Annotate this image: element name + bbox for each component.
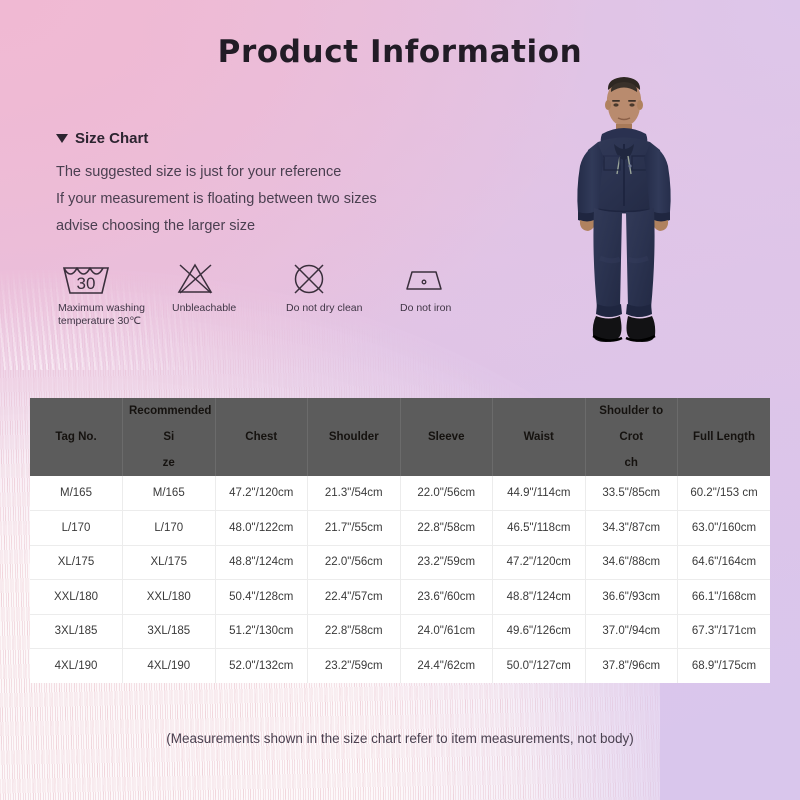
cell-chest: 47.2"/120cm (215, 476, 308, 511)
table-row: XL/175 XL/175 48.8"/124cm 22.0"/56cm 23.… (30, 545, 770, 580)
column-header-shoulder-to-crotch: Shoulder to Crot ch (585, 398, 678, 476)
table-header-row: Tag No. Recommended Si ze Chest Shoulder… (30, 398, 770, 476)
measurement-disclaimer: (Measurements shown in the size chart re… (0, 731, 800, 746)
size-chart-note-3: advise choosing the larger size (56, 213, 476, 240)
cell-recommended-size: L/170 (123, 511, 216, 546)
cell-shoulder: 22.0"/56cm (308, 545, 401, 580)
size-chart-section: Size Chart The suggested size is just fo… (56, 130, 476, 240)
cell-shoulder-to-crotch: 33.5"/85cm (585, 476, 678, 511)
column-header-line: Shoulder to Crot (599, 405, 663, 443)
care-label-dry-clean: Do not dry clean (286, 302, 374, 315)
size-chart-heading[interactable]: Size Chart (56, 130, 476, 147)
cell-tag-no: 4XL/190 (30, 649, 123, 684)
cell-waist: 50.0"/127cm (493, 649, 586, 684)
svg-text:30: 30 (77, 274, 96, 293)
care-item-washing: 30 Maximum washing temperature 30℃ (58, 258, 146, 328)
column-header-line: Tag No. (55, 431, 96, 443)
column-header-line: Full Length (693, 431, 755, 443)
cell-waist: 48.8"/124cm (493, 580, 586, 615)
cell-shoulder: 23.2"/59cm (308, 649, 401, 684)
cell-tag-no: XXL/180 (30, 580, 123, 615)
care-label-iron: Do not iron (400, 302, 488, 315)
cell-tag-no: 3XL/185 (30, 614, 123, 649)
cell-tag-no: XL/175 (30, 545, 123, 580)
cell-shoulder-to-crotch: 37.0"/94cm (585, 614, 678, 649)
cell-recommended-size: XL/175 (123, 545, 216, 580)
size-chart-note-2: If your measurement is floating between … (56, 186, 476, 213)
column-header-line: Shoulder (329, 431, 379, 443)
cell-full-length: 64.6"/164cm (678, 545, 771, 580)
cell-chest: 52.0"/132cm (215, 649, 308, 684)
wash-tub-30-icon: 30 (58, 258, 146, 300)
cell-shoulder-to-crotch: 37.8"/96cm (585, 649, 678, 684)
cell-recommended-size: 4XL/190 (123, 649, 216, 684)
table-row: XXL/180 XXL/180 50.4"/128cm 22.4"/57cm 2… (30, 580, 770, 615)
cell-sleeve: 24.4"/62cm (400, 649, 493, 684)
cell-recommended-size: 3XL/185 (123, 614, 216, 649)
cell-full-length: 60.2"/153 cm (678, 476, 771, 511)
cell-chest: 48.8"/124cm (215, 545, 308, 580)
size-chart-table: Tag No. Recommended Si ze Chest Shoulder… (30, 398, 770, 683)
care-item-bleach: Unbleachable (172, 258, 260, 328)
column-header-full-length: Full Length (678, 398, 771, 476)
cell-shoulder: 22.4"/57cm (308, 580, 401, 615)
column-header-recommended-size: Recommended Si ze (123, 398, 216, 476)
column-header-waist: Waist (493, 398, 586, 476)
cell-sleeve: 22.0"/56cm (400, 476, 493, 511)
care-item-iron: Do not iron (400, 258, 488, 328)
care-label-bleach: Unbleachable (172, 302, 260, 315)
column-header-line: Recommended Si (129, 405, 211, 443)
cell-full-length: 66.1"/168cm (678, 580, 771, 615)
column-header-line: Sleeve (428, 431, 464, 443)
cell-full-length: 67.3"/171cm (678, 614, 771, 649)
care-item-dry-clean: Do not dry clean (286, 258, 374, 328)
model-photo (548, 62, 700, 374)
no-bleach-triangle-icon (172, 258, 260, 300)
no-dry-clean-circle-icon (286, 258, 374, 300)
cell-recommended-size: M/165 (123, 476, 216, 511)
cell-waist: 47.2"/120cm (493, 545, 586, 580)
cell-shoulder: 21.7"/55cm (308, 511, 401, 546)
cell-sleeve: 22.8"/58cm (400, 511, 493, 546)
cell-full-length: 68.9"/175cm (678, 649, 771, 684)
cell-waist: 44.9"/114cm (493, 476, 586, 511)
cell-sleeve: 23.6"/60cm (400, 580, 493, 615)
cell-shoulder: 21.3"/54cm (308, 476, 401, 511)
cell-shoulder-to-crotch: 34.3"/87cm (585, 511, 678, 546)
cell-sleeve: 23.2"/59cm (400, 545, 493, 580)
table-row: 3XL/185 3XL/185 51.2"/130cm 22.8"/58cm 2… (30, 614, 770, 649)
cell-full-length: 63.0"/160cm (678, 511, 771, 546)
cell-recommended-size: XXL/180 (123, 580, 216, 615)
cell-waist: 46.5"/118cm (493, 511, 586, 546)
care-label-washing: Maximum washing temperature 30℃ (58, 302, 150, 328)
table-row: 4XL/190 4XL/190 52.0"/132cm 23.2"/59cm 2… (30, 649, 770, 684)
cell-sleeve: 24.0"/61cm (400, 614, 493, 649)
cell-chest: 51.2"/130cm (215, 614, 308, 649)
column-header-chest: Chest (215, 398, 308, 476)
size-chart-note-1: The suggested size is just for your refe… (56, 159, 476, 186)
column-header-sleeve: Sleeve (400, 398, 493, 476)
column-header-line: ch (625, 457, 638, 469)
cell-shoulder-to-crotch: 36.6"/93cm (585, 580, 678, 615)
cell-shoulder-to-crotch: 34.6"/88cm (585, 545, 678, 580)
cell-chest: 50.4"/128cm (215, 580, 308, 615)
triangle-down-icon[interactable] (56, 134, 68, 143)
cell-shoulder: 22.8"/58cm (308, 614, 401, 649)
cell-tag-no: L/170 (30, 511, 123, 546)
table-row: L/170 L/170 48.0"/122cm 21.7"/55cm 22.8"… (30, 511, 770, 546)
column-header-line: ze (163, 457, 175, 469)
column-header-tag-no: Tag No. (30, 398, 123, 476)
column-header-line: Chest (245, 431, 277, 443)
care-instructions-row: 30 Maximum washing temperature 30℃ Unble… (58, 258, 488, 328)
no-iron-icon (400, 258, 488, 300)
column-header-shoulder: Shoulder (308, 398, 401, 476)
cell-tag-no: M/165 (30, 476, 123, 511)
size-chart-heading-label: Size Chart (75, 130, 148, 147)
column-header-line: Waist (524, 431, 554, 443)
cell-waist: 49.6"/126cm (493, 614, 586, 649)
cell-chest: 48.0"/122cm (215, 511, 308, 546)
table-row: M/165 M/165 47.2"/120cm 21.3"/54cm 22.0"… (30, 476, 770, 511)
